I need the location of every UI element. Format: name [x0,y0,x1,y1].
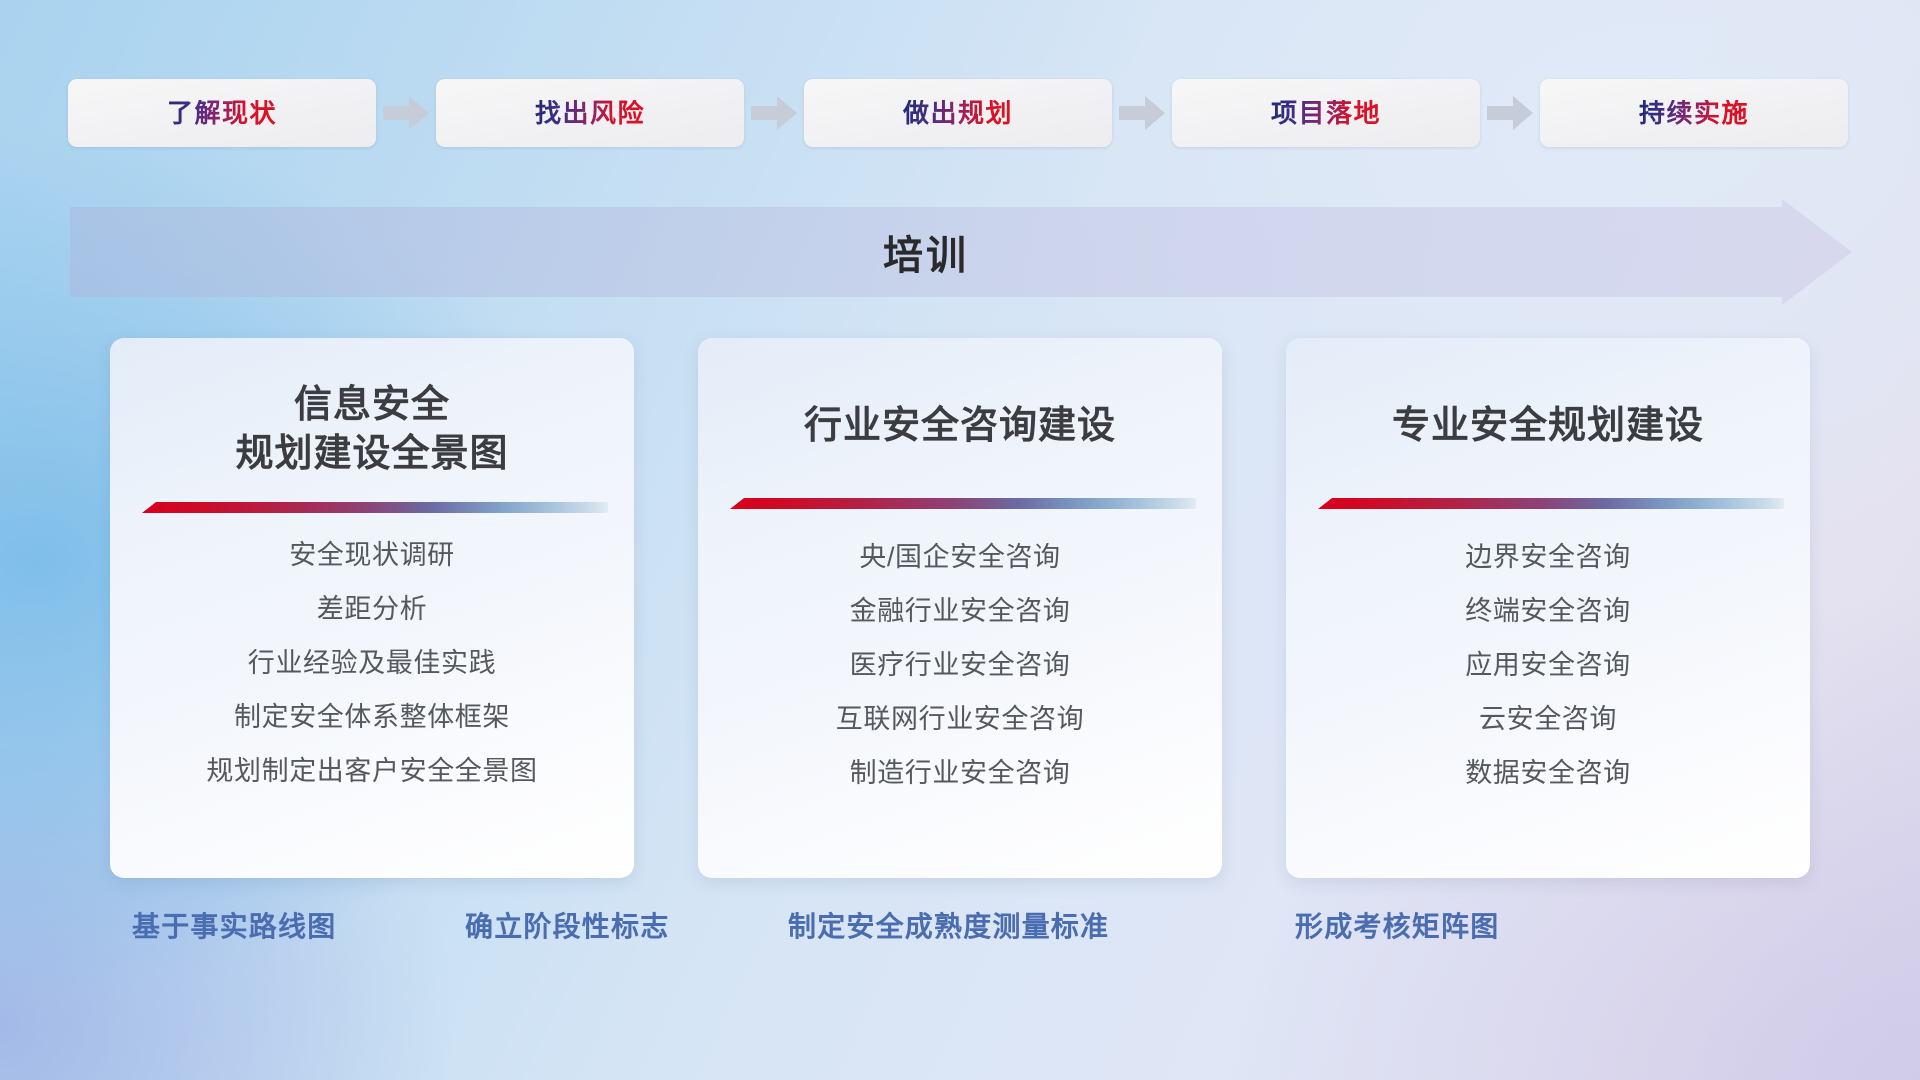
right-arrow-icon [744,93,804,133]
step-button-1[interactable]: 了解现状 [68,79,376,147]
card-title-line: 规划建设全景图 [235,430,508,479]
card-title: 专业安全规划建设 [1312,376,1784,476]
card-title-line: 专业安全规划建设 [1392,402,1704,451]
step-label: 做出规划 [903,100,1013,126]
step-button-3[interactable]: 做出规划 [804,79,1112,147]
footer-label: 制定安全成熟度测量标准 [788,905,1109,945]
right-arrow-icon [1480,93,1540,133]
list-item: 差距分析 [136,596,608,623]
gradient-rule [730,498,1196,509]
card-professional-security-planning[interactable]: 专业安全规划建设 边界安全咨询 终端安全咨询 应用安全咨询 云安全咨询 数据安全… [1286,338,1810,878]
gradient-rule [1318,498,1784,509]
list-item: 边界安全咨询 [1312,544,1784,571]
slide-canvas: 了解现状 找出风险 做出规划 项目落地 [0,0,1920,1080]
card-information-security-panorama[interactable]: 信息安全 规划建设全景图 安全现状调研 差距分析 行业经验及最佳实践 制定安全体… [110,338,634,878]
card-divider [724,496,1196,510]
list-item: 制定安全体系整体框架 [136,704,608,731]
card-title-line: 行业安全咨询建设 [804,402,1116,451]
list-item: 行业经验及最佳实践 [136,650,608,677]
list-item: 医疗行业安全咨询 [724,652,1196,679]
list-item: 云安全咨询 [1312,706,1784,733]
card-divider [136,500,608,514]
gradient-rule [142,502,608,513]
card-industry-security-consulting[interactable]: 行业安全咨询建设 央/国企安全咨询 金融行业安全咨询 医疗行业安全咨询 互联网行… [698,338,1222,878]
step-label: 找出风险 [535,100,645,126]
card-divider [1312,496,1784,510]
footer-label: 基于事实路线图 [132,905,336,945]
step-button-2[interactable]: 找出风险 [436,79,744,147]
list-item: 互联网行业安全咨询 [724,706,1196,733]
card-item-list: 安全现状调研 差距分析 行业经验及最佳实践 制定安全体系整体框架 规划制定出客户… [136,542,608,785]
list-item: 央/国企安全咨询 [724,544,1196,571]
list-item: 数据安全咨询 [1312,760,1784,787]
step-label: 持续实施 [1639,100,1749,126]
step-label: 项目落地 [1271,100,1381,126]
list-item: 金融行业安全咨询 [724,598,1196,625]
footer-label: 确立阶段性标志 [465,905,669,945]
list-item: 规划制定出客户安全全景图 [136,758,608,785]
card-title-line: 信息安全 [235,381,508,430]
list-item: 应用安全咨询 [1312,652,1784,679]
card-item-list: 边界安全咨询 终端安全咨询 应用安全咨询 云安全咨询 数据安全咨询 [1312,544,1784,787]
card-row: 信息安全 规划建设全景图 安全现状调研 差距分析 行业经验及最佳实践 制定安全体… [110,338,1810,878]
step-label: 了解现状 [167,100,277,126]
card-title: 信息安全 规划建设全景图 [136,376,608,480]
list-item: 制造行业安全咨询 [724,760,1196,787]
process-step-row: 了解现状 找出风险 做出规划 项目落地 [68,78,1852,148]
banner-title: 培训 [70,207,1782,297]
card-title: 行业安全咨询建设 [724,376,1196,476]
right-arrow-icon [376,93,436,133]
list-item: 终端安全咨询 [1312,598,1784,625]
training-banner: 培训 [70,207,1852,297]
footer-label: 形成考核矩阵图 [1295,905,1499,945]
footer-label-row: 基于事实路线图 确立阶段性标志 制定安全成熟度测量标准 形成考核矩阵图 [110,905,1810,951]
step-button-4[interactable]: 项目落地 [1172,79,1480,147]
card-item-list: 央/国企安全咨询 金融行业安全咨询 医疗行业安全咨询 互联网行业安全咨询 制造行… [724,544,1196,787]
list-item: 安全现状调研 [136,542,608,569]
step-button-5[interactable]: 持续实施 [1540,79,1848,147]
banner-arrow-tip-icon [1782,199,1852,305]
right-arrow-icon [1112,93,1172,133]
